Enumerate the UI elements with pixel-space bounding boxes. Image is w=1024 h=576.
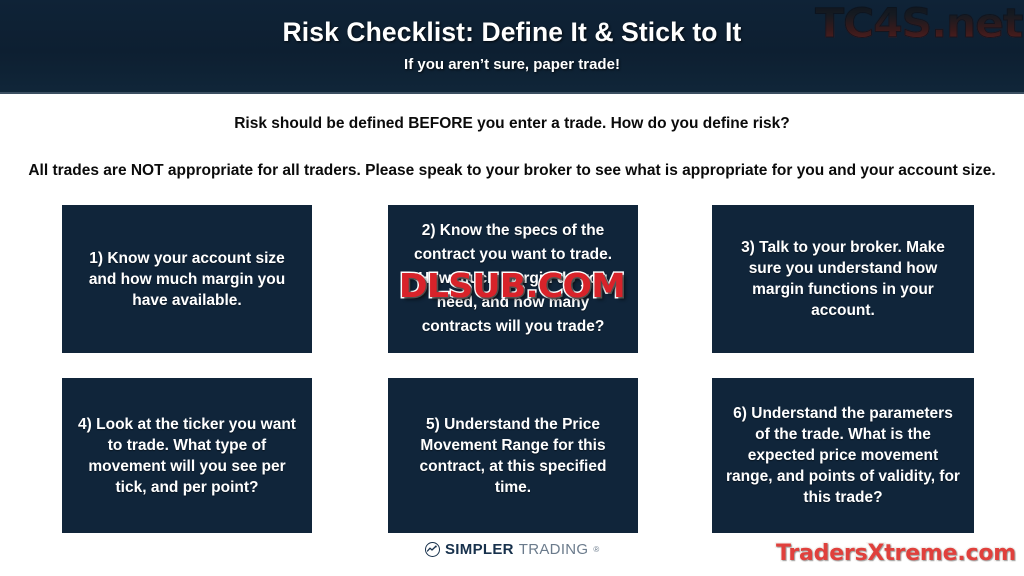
simpler-wordmark-bold: SIMPLER xyxy=(445,541,514,558)
intro-question: Risk should be defined BEFORE you enter … xyxy=(0,115,1024,133)
checklist-box-4: 4) Look at the ticker you want to trade.… xyxy=(62,378,312,533)
registered-trademark-symbol: ® xyxy=(593,545,599,554)
checklist-box-2: 2) Know the specs of the contract you wa… xyxy=(388,205,638,353)
page-subtitle: If you aren’t sure, paper trade! xyxy=(0,56,1024,73)
chart-line-circle-icon xyxy=(425,542,440,557)
tradersxtreme-logo: TradersXtreme.com xyxy=(776,541,1016,566)
page-title: Risk Checklist: Define It & Stick to It xyxy=(0,17,1024,48)
checklist-box-5: 5) Understand the Price Movement Range f… xyxy=(388,378,638,533)
checklist-box-3-text: 3) Talk to your broker. Make sure you un… xyxy=(724,237,962,321)
checklist-box-5-text: 5) Understand the Price Movement Range f… xyxy=(400,414,626,498)
intro-disclaimer: All trades are NOT appropriate for all t… xyxy=(28,160,996,181)
header-banner: Risk Checklist: Define It & Stick to It … xyxy=(0,0,1024,94)
checklist-box-4-text: 4) Look at the ticker you want to trade.… xyxy=(74,414,300,498)
checklist-box-1: 1) Know your account size and how much m… xyxy=(62,205,312,353)
checklist-box-6: 6) Understand the parameters of the trad… xyxy=(712,378,974,533)
checklist-box-2-text: 2) Know the specs of the contract you wa… xyxy=(400,219,626,339)
checklist-box-6-text: 6) Understand the parameters of the trad… xyxy=(724,403,962,508)
checklist-box-3: 3) Talk to your broker. Make sure you un… xyxy=(712,205,974,353)
checklist-box-1-text: 1) Know your account size and how much m… xyxy=(74,248,300,311)
simpler-trading-logo: SIMPLER TRADING ® xyxy=(425,541,599,558)
simpler-wordmark-light: TRADING xyxy=(519,541,589,558)
